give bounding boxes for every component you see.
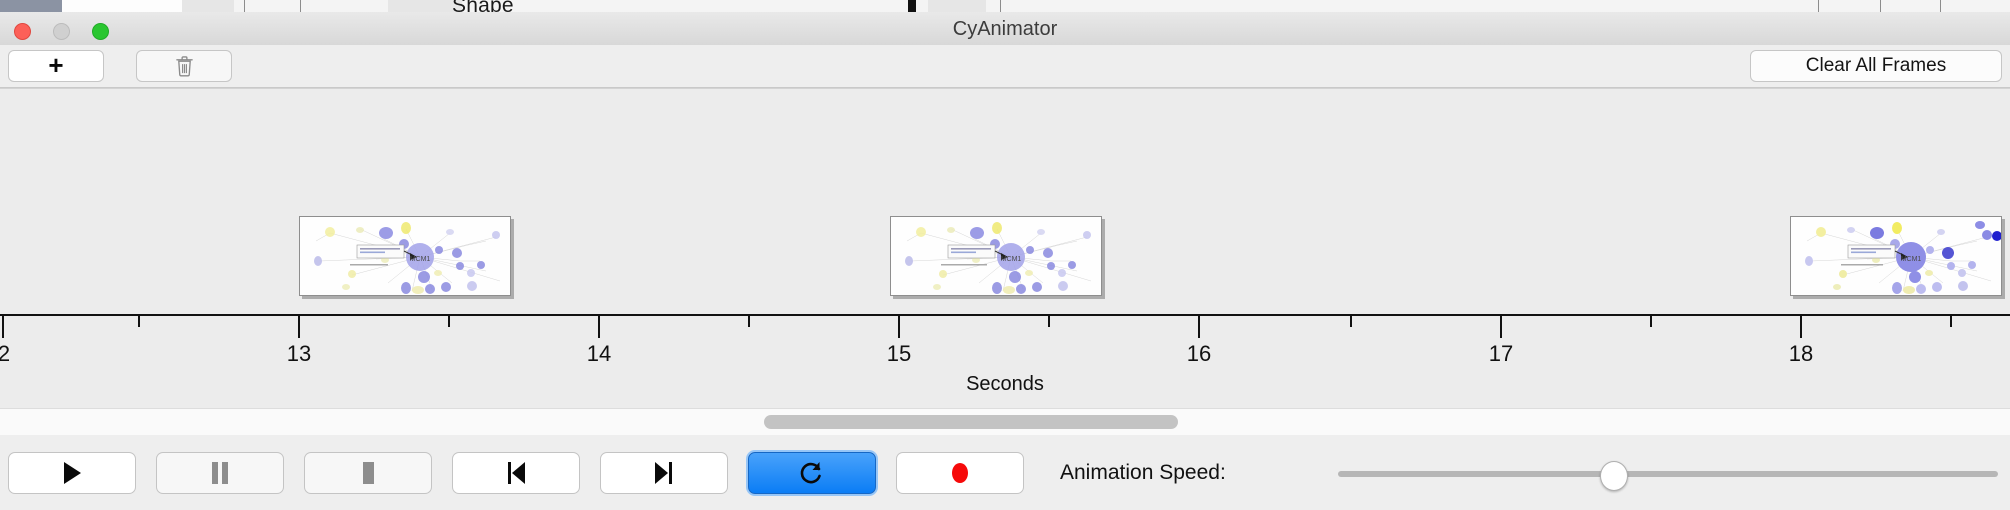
clear-all-frames-button[interactable]: Clear All Frames xyxy=(1750,50,2002,82)
animation-speed-slider-knob[interactable] xyxy=(1600,461,1628,491)
axis-tick-major xyxy=(1500,316,1502,338)
axis-tick-major xyxy=(2,316,4,338)
bg-tick xyxy=(1818,0,1819,12)
playback-controls: Animation Speed: xyxy=(0,435,2010,510)
svg-text:MCM1: MCM1 xyxy=(1901,256,1922,263)
record-button[interactable] xyxy=(896,452,1024,494)
axis-tick-label: 2 xyxy=(0,341,10,367)
axis-tick-major xyxy=(1800,316,1802,338)
axis-tick-label: 17 xyxy=(1489,341,1513,367)
record-icon xyxy=(949,459,971,487)
loop-icon xyxy=(799,459,825,487)
page-title: CyAnimator xyxy=(0,18,2010,41)
play-icon xyxy=(59,459,85,487)
stop-icon xyxy=(356,459,380,487)
animation-speed-label: Animation Speed: xyxy=(1060,461,1226,485)
delete-frame-button[interactable] xyxy=(136,50,232,82)
next-frame-button[interactable] xyxy=(600,452,728,494)
axis-tick-minor xyxy=(1650,316,1652,327)
axis-title: Seconds xyxy=(0,373,2010,396)
svg-text:MCM1: MCM1 xyxy=(1001,256,1022,263)
toolbar: + Clear All Frames xyxy=(0,45,2010,88)
title-bar: CyAnimator xyxy=(0,12,2010,46)
pause-button[interactable] xyxy=(156,452,284,494)
axis-tick-major xyxy=(1198,316,1200,338)
timeline-scrollbar[interactable] xyxy=(0,408,2010,436)
skip-next-icon xyxy=(651,459,677,487)
axis-tick-minor xyxy=(1048,316,1050,327)
frames-track[interactable]: MCM1 xyxy=(0,89,2010,314)
axis-tick-label: 15 xyxy=(887,341,911,367)
trash-icon xyxy=(175,55,194,77)
frame-thumbnail[interactable]: MCM1 xyxy=(299,216,511,296)
bg-tick xyxy=(1940,0,1941,12)
play-button[interactable] xyxy=(8,452,136,494)
svg-text:MCM1: MCM1 xyxy=(410,256,431,263)
scrollbar-thumb[interactable] xyxy=(764,415,1178,429)
network-graph-icon: MCM1 xyxy=(300,217,511,296)
bg-tick xyxy=(1880,0,1881,12)
add-frame-button[interactable]: + xyxy=(8,50,104,82)
axis-tick-minor xyxy=(138,316,140,327)
bg-chip xyxy=(182,0,234,12)
bg-chip xyxy=(0,0,62,12)
bg-tick xyxy=(1000,0,1001,12)
cyanimator-window: Shape CyAnimator + Clear All Frames xyxy=(0,0,2010,510)
timeline-panel[interactable]: MCM1 xyxy=(0,88,2010,409)
axis-tick-label: 13 xyxy=(287,341,311,367)
plus-icon: + xyxy=(48,52,63,78)
axis-tick-label: 18 xyxy=(1789,341,1813,367)
axis-tick-minor xyxy=(748,316,750,327)
timeline-axis xyxy=(0,314,2010,316)
bg-chip xyxy=(908,0,916,12)
animation-speed-slider[interactable] xyxy=(1338,471,1998,477)
frame-thumbnail[interactable]: MCM1 xyxy=(1790,216,2002,296)
axis-tick-minor xyxy=(1350,316,1352,327)
axis-tick-major xyxy=(898,316,900,338)
axis-tick-label: 14 xyxy=(587,341,611,367)
axis-tick-major xyxy=(298,316,300,338)
skip-previous-icon xyxy=(503,459,529,487)
frame-thumbnail[interactable]: MCM1 xyxy=(890,216,1102,296)
bg-chip xyxy=(62,0,182,12)
clear-all-frames-label: Clear All Frames xyxy=(1806,55,1946,77)
axis-tick-major xyxy=(598,316,600,338)
axis-tick-minor xyxy=(1950,316,1952,327)
bg-chip xyxy=(388,0,462,12)
stop-button[interactable] xyxy=(304,452,432,494)
pause-icon xyxy=(208,459,232,487)
axis-tick-minor xyxy=(448,316,450,327)
network-graph-icon: MCM1 xyxy=(1791,217,2002,296)
previous-frame-button[interactable] xyxy=(452,452,580,494)
loop-button[interactable] xyxy=(748,452,876,494)
axis-tick-label: 16 xyxy=(1187,341,1211,367)
network-graph-icon: MCM1 xyxy=(891,217,1102,296)
bg-tick xyxy=(300,0,301,12)
bg-tick xyxy=(244,0,245,12)
bg-chip xyxy=(928,0,986,12)
